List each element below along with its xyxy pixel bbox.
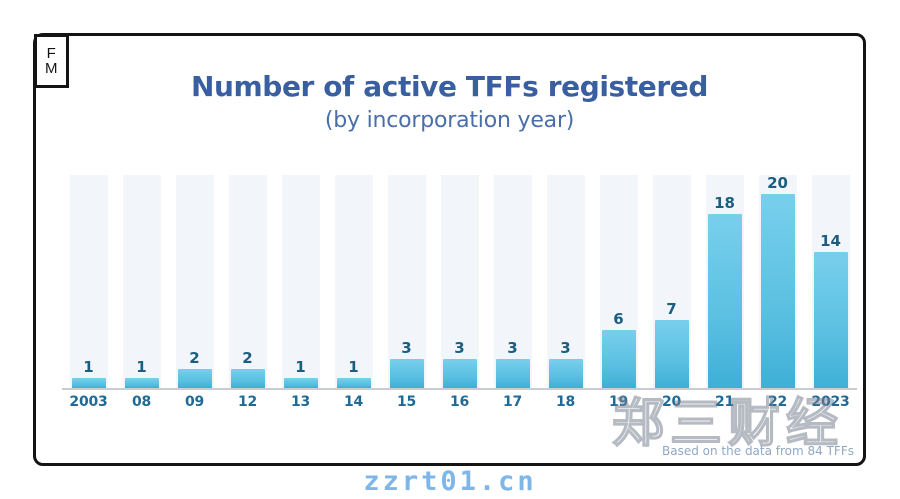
bar-value-label: 1 (348, 360, 358, 375)
bar-column[interactable]: 7 (645, 175, 698, 388)
plot-area: 112211333367182014 (62, 175, 857, 388)
bar-value-label: 2 (242, 351, 252, 366)
bar[interactable] (231, 369, 265, 388)
x-tick-label: 13 (274, 394, 327, 410)
bar-value-label: 1 (136, 360, 146, 375)
bar-value-label: 14 (820, 234, 841, 249)
x-tick-label: 2023 (804, 394, 857, 410)
x-tick-label: 19 (592, 394, 645, 410)
column-background-band (282, 175, 320, 388)
bar-value-label: 1 (83, 360, 93, 375)
watermark-url: zzrt01.cn (0, 466, 900, 497)
bar-column[interactable]: 18 (698, 175, 751, 388)
x-tick-label: 09 (168, 394, 221, 410)
bar-columns: 112211333367182014 (62, 175, 857, 388)
bar-column[interactable]: 3 (539, 175, 592, 388)
bar[interactable] (496, 359, 530, 388)
bar-value-label: 20 (767, 176, 788, 191)
bar[interactable] (178, 369, 212, 388)
bar[interactable] (284, 378, 318, 388)
bar[interactable] (549, 359, 583, 388)
bar-column[interactable]: 1 (274, 175, 327, 388)
chart-canvas: F M Number of active TFFs registered (by… (0, 0, 900, 499)
fm-logo: F M (34, 34, 69, 88)
title-block: Number of active TFFs registered (by inc… (33, 72, 866, 134)
logo-line-2: M (45, 61, 58, 76)
bar-column[interactable]: 3 (380, 175, 433, 388)
bar[interactable] (390, 359, 424, 388)
bar-value-label: 3 (401, 341, 411, 356)
bar-column[interactable]: 20 (751, 175, 804, 388)
bar-value-label: 1 (295, 360, 305, 375)
x-axis-line (62, 388, 857, 390)
bar-value-label: 7 (666, 302, 676, 317)
bar-column[interactable]: 3 (486, 175, 539, 388)
column-background-band (70, 175, 108, 388)
bar-column[interactable]: 1 (327, 175, 380, 388)
x-tick-label: 20 (645, 394, 698, 410)
bar-value-label: 18 (714, 196, 735, 211)
chart-title: Number of active TFFs registered (33, 72, 866, 103)
x-tick-label: 16 (433, 394, 486, 410)
x-tick-label: 21 (698, 394, 751, 410)
bar-column[interactable]: 2 (168, 175, 221, 388)
bar[interactable] (72, 378, 106, 388)
x-tick-label: 08 (115, 394, 168, 410)
bar-value-label: 2 (189, 351, 199, 366)
column-background-band (335, 175, 373, 388)
bar-column[interactable]: 6 (592, 175, 645, 388)
bar[interactable] (125, 378, 159, 388)
column-background-band (123, 175, 161, 388)
bar-column[interactable]: 2 (221, 175, 274, 388)
bar[interactable] (655, 320, 689, 388)
source-note: Based on the data from 84 TFFs (662, 444, 854, 458)
bar-column[interactable]: 1 (62, 175, 115, 388)
bar-column[interactable]: 3 (433, 175, 486, 388)
bar-column[interactable]: 14 (804, 175, 857, 388)
x-tick-label: 2003 (62, 394, 115, 410)
bar-value-label: 6 (613, 312, 623, 327)
bar-column[interactable]: 1 (115, 175, 168, 388)
bar[interactable] (814, 252, 848, 388)
bar[interactable] (708, 214, 742, 388)
bar[interactable] (602, 330, 636, 388)
bar-value-label: 3 (560, 341, 570, 356)
bar[interactable] (761, 194, 795, 388)
chart-subtitle: (by incorporation year) (33, 108, 866, 134)
x-axis-labels: 2003080912131415161718192021222023 (62, 394, 857, 410)
x-tick-label: 15 (380, 394, 433, 410)
x-tick-label: 12 (221, 394, 274, 410)
x-tick-label: 14 (327, 394, 380, 410)
bar-value-label: 3 (507, 341, 517, 356)
bar-value-label: 3 (454, 341, 464, 356)
x-tick-label: 22 (751, 394, 804, 410)
x-tick-label: 17 (486, 394, 539, 410)
x-tick-label: 18 (539, 394, 592, 410)
bar[interactable] (443, 359, 477, 388)
bar[interactable] (337, 378, 371, 388)
logo-line-1: F (47, 46, 57, 61)
